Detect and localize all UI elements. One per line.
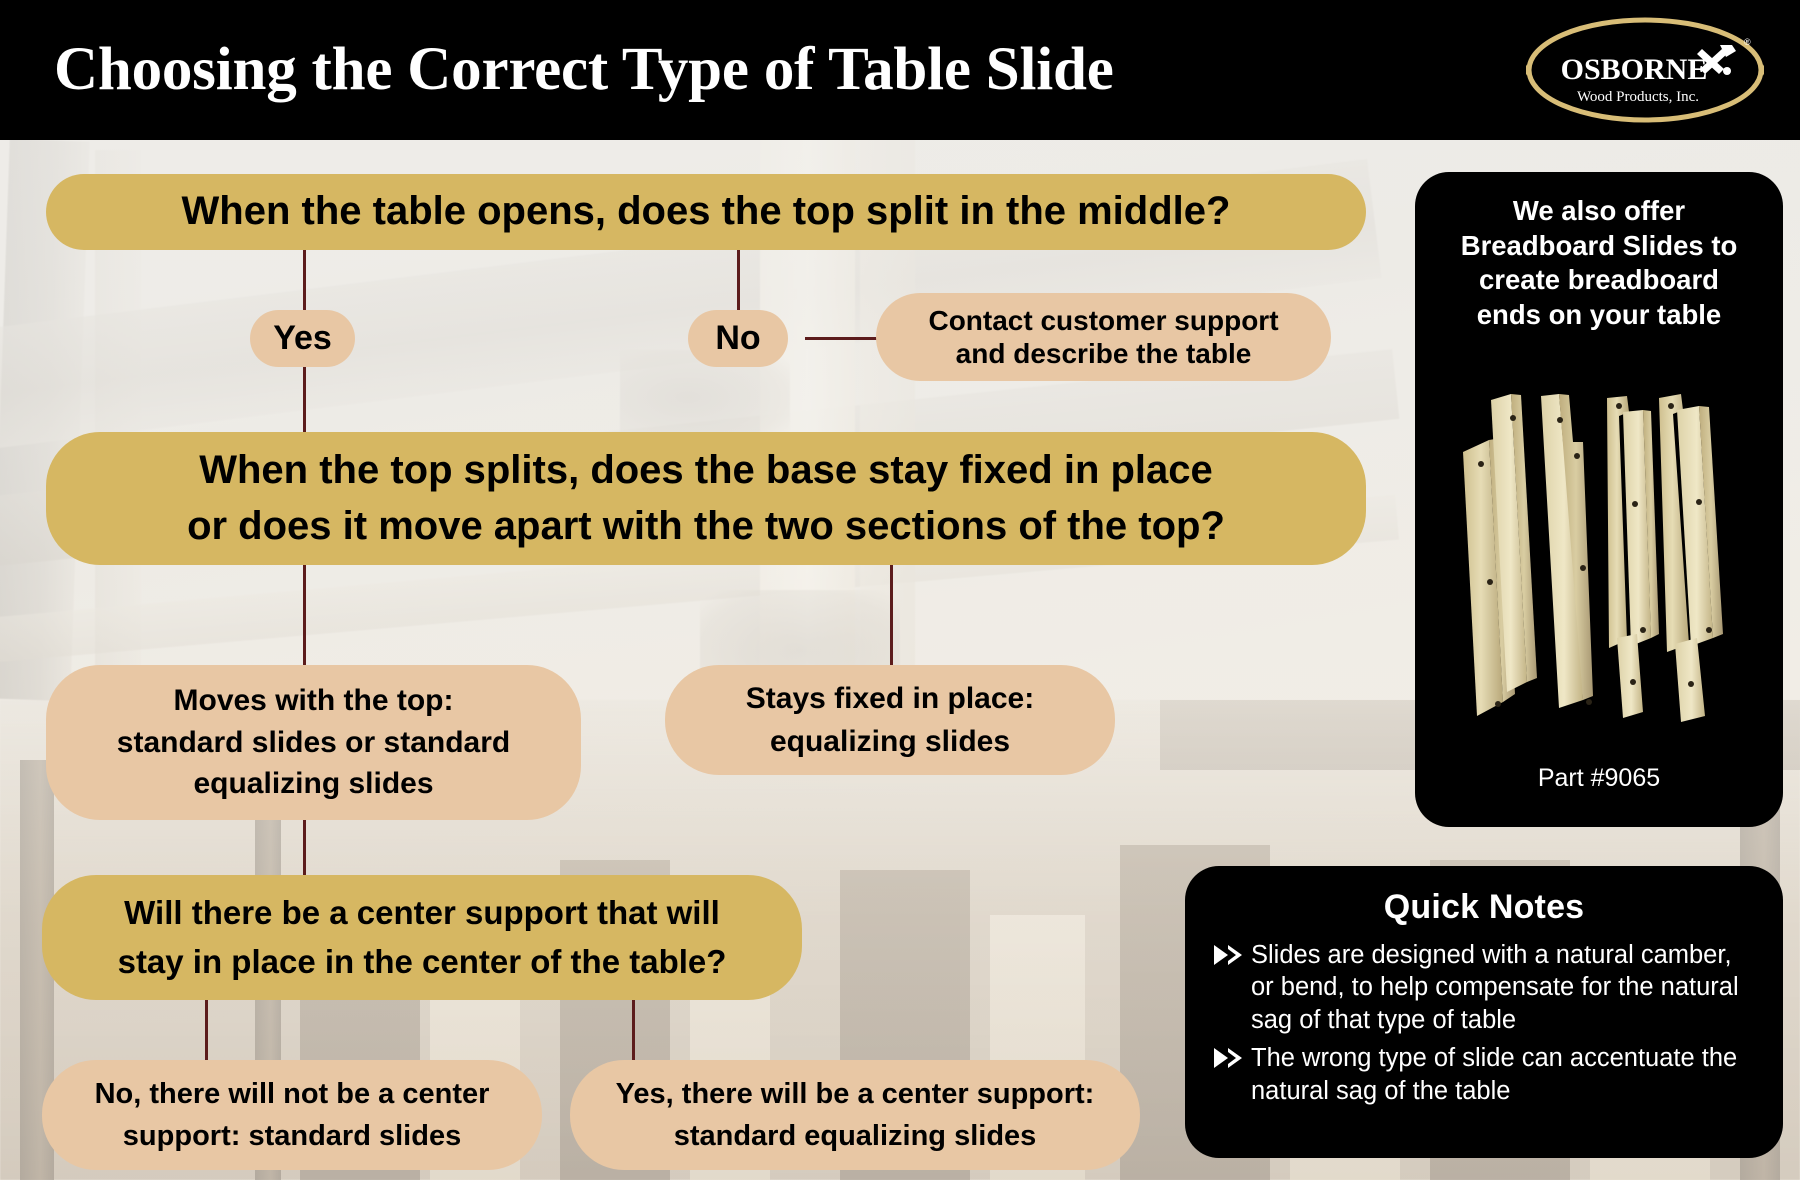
quick-note-text: The wrong type of slide can accentuate t… bbox=[1251, 1042, 1757, 1107]
answer-no-center-value: standard slides bbox=[248, 1120, 461, 1152]
logo-tagline-text: Wood Products, Inc. bbox=[1577, 89, 1699, 105]
question-2-line-2: or does it move apart with the two secti… bbox=[187, 503, 1225, 550]
connector-q2-to-fixed bbox=[890, 565, 893, 665]
answer-fixed-value: equalizing slides bbox=[770, 724, 1010, 759]
answer-no-center-line-1: No, there will not be a center bbox=[95, 1077, 490, 1111]
connector-q3-to-no-center bbox=[205, 1000, 208, 1060]
connector-q2-to-moves bbox=[303, 565, 306, 665]
answer-no-center-support-box[interactable]: No, there will not be a center support: … bbox=[42, 1060, 542, 1170]
contact-support-line-2: and describe the table bbox=[956, 337, 1252, 370]
connector-q1-to-yes bbox=[303, 250, 306, 312]
answer-yes-1-box[interactable]: Yes bbox=[250, 310, 355, 367]
answer-yes-center-value: standard equalizing slides bbox=[674, 1119, 1037, 1153]
quick-notes-title: Quick Notes bbox=[1185, 888, 1783, 927]
quick-note-item: Slides are designed with a natural cambe… bbox=[1207, 939, 1757, 1036]
question-2-box[interactable]: When the top splits, does the base stay … bbox=[46, 432, 1366, 565]
breadboard-caption-line-3: create breadboard bbox=[1435, 263, 1763, 298]
answer-yes-center-support-box[interactable]: Yes, there will be a center support: sta… bbox=[570, 1060, 1140, 1170]
answer-fixed-label: Stays fixed in place: bbox=[746, 681, 1034, 716]
logo-brand-text: OSBORNE bbox=[1561, 53, 1708, 86]
breadboard-caption: We also offer Breadboard Slides to creat… bbox=[1435, 194, 1763, 333]
question-3-line-2: stay in place in the center of the table… bbox=[118, 943, 727, 982]
question-1-text: When the table opens, does the top split… bbox=[182, 188, 1231, 235]
breadboard-slides-photo bbox=[1437, 382, 1761, 732]
contact-support-line-1: Contact customer support bbox=[928, 304, 1278, 337]
logo-registered-mark: ® bbox=[1744, 37, 1751, 47]
answer-moves-label: Moves with the top: bbox=[174, 683, 454, 718]
page-title: Choosing the Correct Type of Table Slide bbox=[54, 35, 1114, 105]
infographic-page: Choosing the Correct Type of Table Slide… bbox=[0, 0, 1800, 1180]
breadboard-part-number: Part #9065 bbox=[1415, 764, 1783, 793]
double-chevron-right-icon bbox=[1207, 1042, 1251, 1070]
breadboard-caption-line-4: ends on your table bbox=[1435, 298, 1763, 333]
question-3-box[interactable]: Will there be a center support that will… bbox=[42, 875, 802, 1000]
connector-q3-to-yes-center bbox=[632, 1000, 635, 1060]
answer-yes-center-line-1: Yes, there will be a center support: bbox=[616, 1077, 1095, 1111]
breadboard-caption-line-1: We also offer bbox=[1435, 194, 1763, 229]
answer-stays-fixed-box[interactable]: Stays fixed in place: equalizing slides bbox=[665, 665, 1115, 775]
breadboard-slides-panel: We also offer Breadboard Slides to creat… bbox=[1415, 172, 1783, 827]
connector-moves-to-q3 bbox=[303, 820, 306, 875]
answer-no-1-box[interactable]: No bbox=[688, 310, 788, 367]
quick-notes-panel: Quick Notes Slides are designed with a n… bbox=[1185, 866, 1783, 1158]
answer-no-center-line-2: support: standard slides bbox=[123, 1119, 461, 1153]
connector-q1-to-no bbox=[737, 250, 740, 312]
answer-yes-1-text: Yes bbox=[273, 318, 332, 358]
answer-no-center-prefix: support: bbox=[123, 1120, 249, 1152]
question-3-line-1: Will there be a center support that will bbox=[124, 894, 720, 933]
quick-note-text: Slides are designed with a natural cambe… bbox=[1251, 939, 1757, 1036]
header-bar: Choosing the Correct Type of Table Slide… bbox=[0, 0, 1800, 140]
connector-yes-to-q2 bbox=[303, 366, 306, 432]
breadboard-caption-line-2: Breadboard Slides to bbox=[1435, 229, 1763, 264]
osborne-logo: OSBORNE Wood Products, Inc. ® bbox=[1526, 17, 1764, 123]
double-chevron-right-icon bbox=[1207, 939, 1251, 967]
question-1-box[interactable]: When the table opens, does the top split… bbox=[46, 174, 1366, 250]
connector-no-to-contact bbox=[805, 337, 877, 340]
answer-moves-value-line-1: standard slides or standard bbox=[117, 725, 510, 760]
answer-moves-with-top-box[interactable]: Moves with the top: standard slides or s… bbox=[46, 665, 581, 820]
quick-note-item: The wrong type of slide can accentuate t… bbox=[1207, 1042, 1757, 1107]
contact-support-box[interactable]: Contact customer support and describe th… bbox=[876, 293, 1331, 381]
answer-no-1-text: No bbox=[715, 318, 760, 358]
quick-notes-list: Slides are designed with a natural cambe… bbox=[1207, 939, 1757, 1107]
answer-moves-value-line-2: equalizing slides bbox=[193, 766, 433, 801]
question-2-line-1: When the top splits, does the base stay … bbox=[199, 447, 1213, 494]
